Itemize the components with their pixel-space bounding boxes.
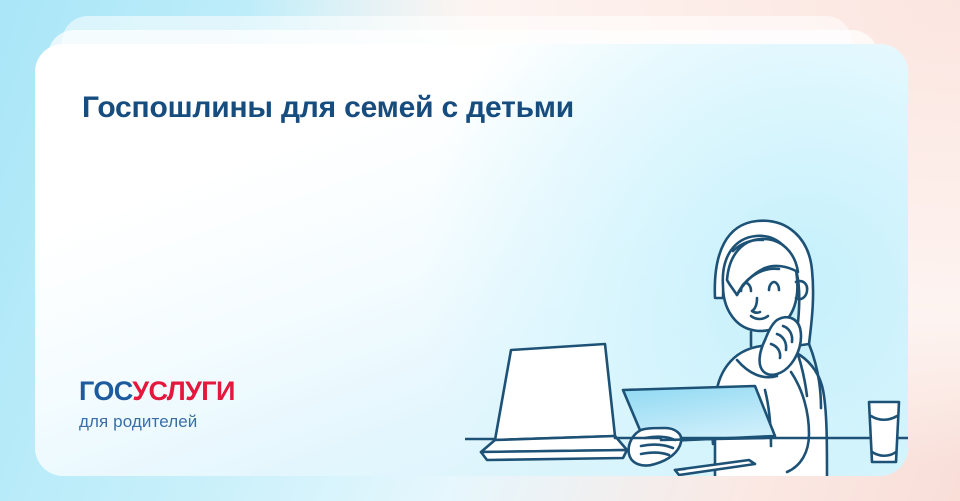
logo-subtitle: для родителей [79,412,235,432]
logo-word-part-gos: ГОС [79,376,132,406]
glass-of-water [869,402,899,462]
laptop [481,344,627,460]
page-title: Госпошлины для семей с детьми [82,91,574,125]
banner-card: Госпошлины для семей с детьми ГОСУСЛУГИ … [35,44,908,476]
gosuslugi-logo[interactable]: ГОСУСЛУГИ для родителей [79,378,235,432]
logo-wordmark: ГОСУСЛУГИ [79,378,235,405]
illustration-woman-at-desk [465,194,908,476]
logo-word-part-uslugi: УСЛУГИ [132,376,234,406]
page-background: Госпошлины для семей с детьми ГОСУСЛУГИ … [0,0,960,501]
holding-hand [629,428,682,466]
